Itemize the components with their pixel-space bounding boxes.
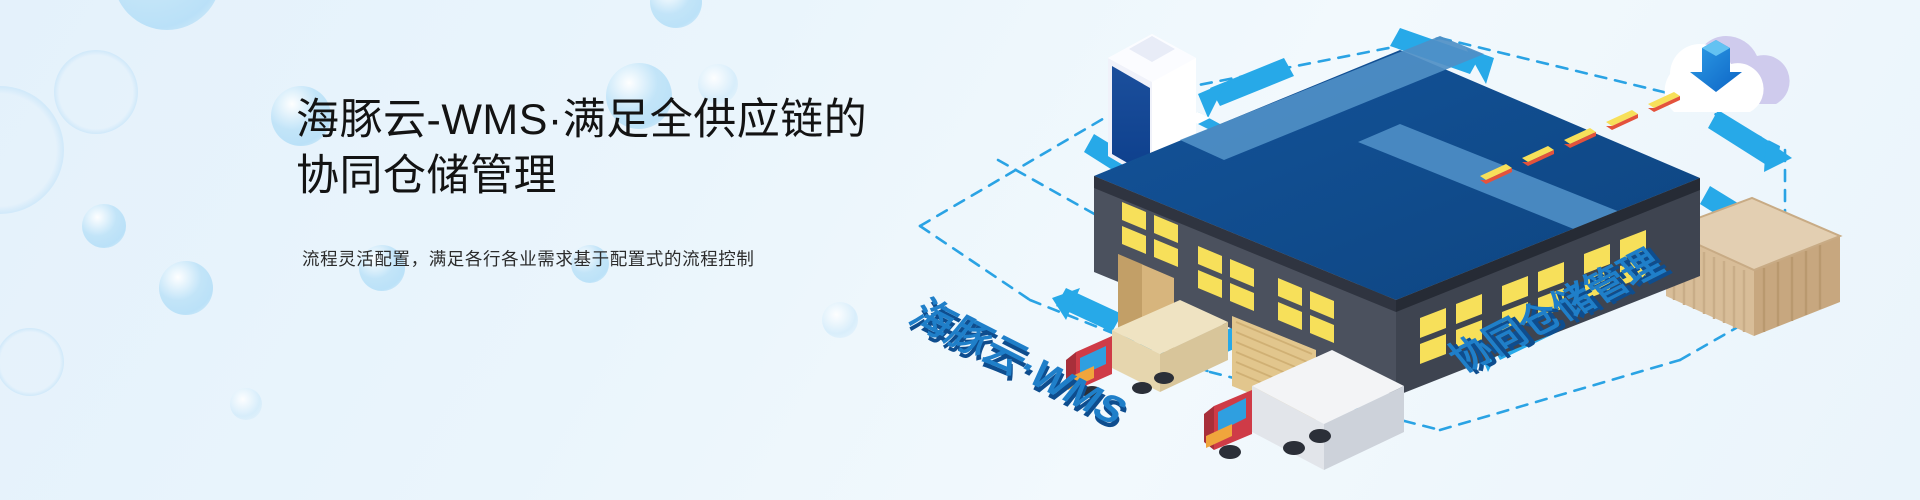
page-title-line1: 海豚云-WMS·满足全供应链的 (296, 96, 867, 144)
decorative-bubble-2 (54, 50, 138, 134)
page-subtitle: 流程灵活配置，满足各行各业需求基于配置式的流程控制 (302, 246, 896, 272)
page-title-line2: 协同仓储管理 (296, 148, 896, 204)
decorative-bubble-12 (230, 388, 262, 420)
cloud-download-icon (1665, 36, 1790, 112)
decorative-bubble-1 (650, 0, 702, 28)
hero-banner: 海豚云-WMS·满足全供应链的 协同仓储管理 流程灵活配置，满足各行各业需求基于… (0, 0, 1920, 500)
decorative-bubble-0 (113, 0, 221, 30)
decorative-bubble-11 (0, 328, 64, 396)
decorative-bubble-8 (159, 261, 213, 315)
decorative-bubble-3 (0, 86, 64, 214)
decorative-bubble-13 (822, 302, 858, 338)
hero-copy: 海豚云-WMS·满足全供应链的 协同仓储管理 流程灵活配置，满足各行各业需求基于… (296, 92, 896, 272)
decorative-bubble-7 (82, 204, 126, 248)
warehouse-illustration: 海豚云·WMS 海豚云·WMS 协同仓储管理 协同仓储管理 (880, 0, 1920, 500)
page-title: 海豚云-WMS·满足全供应链的 协同仓储管理 (296, 92, 896, 204)
